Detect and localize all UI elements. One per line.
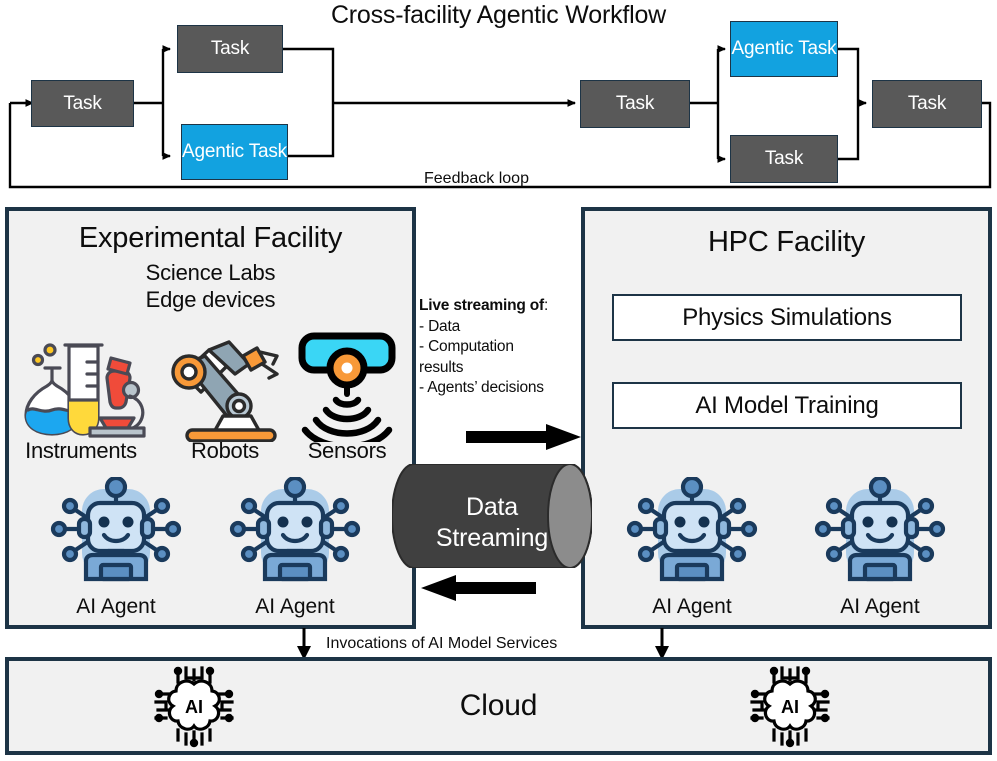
hpc-service-1-label: Physics Simulations <box>682 304 892 332</box>
workflow-task-5-label: Task <box>908 93 946 115</box>
streaming-item-2: - Computation <box>419 337 584 358</box>
ai-agent-icon <box>225 477 365 595</box>
hpc-service-ai-model-training[interactable]: AI Model Training <box>612 382 962 429</box>
stream-arrow-right-icon <box>466 424 581 450</box>
experimental-subtitle-1: Science Labs <box>9 259 412 286</box>
svg-text:AI: AI <box>185 697 203 717</box>
workflow-task-2[interactable]: Task <box>177 25 283 73</box>
experimental-agent-2-caption: AI Agent <box>219 594 371 619</box>
sensor-icon <box>292 328 402 442</box>
instruments-caption: Instruments <box>2 438 160 464</box>
data-streaming-label-line2: Streaming <box>392 523 592 554</box>
invocation-arrow-right-icon <box>648 628 678 660</box>
svg-text:AI: AI <box>781 697 799 717</box>
workflow-agentic-task-2-label: Agentic Task <box>732 38 837 60</box>
data-streaming-label-line1: Data <box>392 492 592 523</box>
streaming-item-2-cont: results <box>419 358 584 379</box>
workflow-task-1[interactable]: Task <box>31 80 134 127</box>
sensors-caption: Sensors <box>288 438 406 464</box>
hpc-service-2-label: AI Model Training <box>695 392 878 420</box>
live-streaming-block: Live streaming of: - Data - Computation … <box>419 296 584 399</box>
invocation-label: Invocations of AI Model Services <box>326 634 557 654</box>
workflow-agentic-task-2[interactable]: Agentic Task <box>730 21 838 77</box>
workflow-task-1-label: Task <box>63 93 101 115</box>
hpc-agent-2-caption: AI Agent <box>804 594 956 619</box>
experimental-agent-1-caption: AI Agent <box>40 594 192 619</box>
live-streaming-heading: Live streaming of: <box>419 296 584 317</box>
workflow-task-3-label: Task <box>616 93 654 115</box>
diagram-canvas: Cross-facility Agentic Workflow <box>0 0 997 761</box>
robots-caption: Robots <box>160 438 290 464</box>
experimental-subtitle-2: Edge devices <box>9 286 412 313</box>
invocation-arrow-left-icon <box>290 628 320 660</box>
workflow-agentic-task-1-label: Agentic Task <box>182 141 287 163</box>
streaming-item-3: - Agents’ decisions <box>419 378 584 399</box>
workflow-agentic-task-1[interactable]: Agentic Task <box>181 124 288 180</box>
instruments-icon <box>12 330 150 442</box>
live-streaming-heading-text: Live streaming of <box>419 297 544 314</box>
experimental-facility-title: Experimental Facility <box>9 221 412 255</box>
data-streaming-cylinder[interactable]: Data Streaming <box>392 464 592 568</box>
feedback-loop-label: Feedback loop <box>424 170 529 188</box>
ai-brain-chip-icon: AI <box>152 664 236 748</box>
data-streaming-label: Data Streaming <box>392 492 592 554</box>
ai-agent-icon <box>622 477 762 595</box>
stream-arrow-left-icon <box>421 575 536 601</box>
hpc-service-physics-simulations[interactable]: Physics Simulations <box>612 294 962 341</box>
workflow-task-4-label: Task <box>765 148 803 170</box>
workflow-task-2-label: Task <box>211 38 249 60</box>
ai-agent-icon <box>810 477 950 595</box>
robot-arm-icon <box>165 330 285 442</box>
hpc-agent-1-caption: AI Agent <box>616 594 768 619</box>
workflow-task-5[interactable]: Task <box>872 80 982 128</box>
hpc-facility-title: HPC Facility <box>585 225 988 259</box>
live-streaming-heading-colon: : <box>544 297 548 314</box>
ai-brain-chip-icon: AI <box>748 664 832 748</box>
workflow-task-4[interactable]: Task <box>730 135 838 183</box>
streaming-item-1: - Data <box>419 317 584 338</box>
workflow-task-3[interactable]: Task <box>580 80 690 128</box>
ai-agent-icon <box>46 477 186 595</box>
